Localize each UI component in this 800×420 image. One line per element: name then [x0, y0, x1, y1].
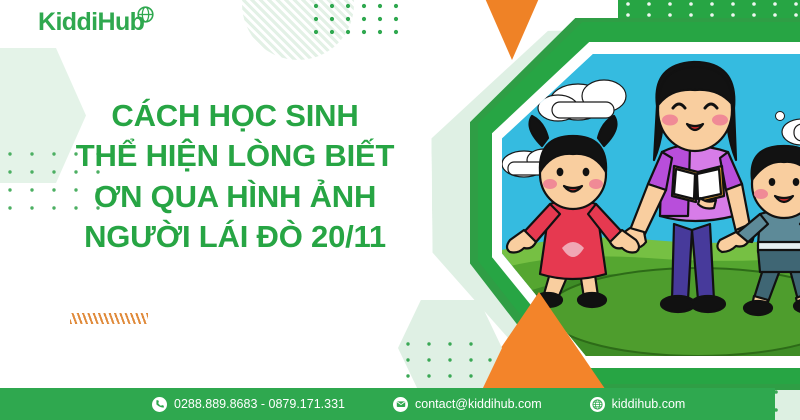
- logo-text: KiddiHub: [38, 8, 144, 37]
- headline-line-1: CÁCH HỌC SINH: [0, 96, 470, 136]
- white-hexagon-frame: [492, 42, 800, 368]
- footer-phone-text: 0288.889.8683 - 0879.171.331: [174, 397, 345, 411]
- pale-hexagon-bottom-left-decoration: [398, 300, 502, 396]
- email-icon: [393, 397, 408, 412]
- footer-phone-item[interactable]: 0288.889.8683 - 0879.171.331: [152, 397, 345, 412]
- dark-green-hexagon-frame: [470, 18, 800, 390]
- footer-email-text: contact@kiddihub.com: [415, 397, 542, 411]
- footer-email-item[interactable]: contact@kiddihub.com: [393, 397, 542, 412]
- globe-icon: [590, 397, 605, 412]
- contact-footer-bar: 0288.889.8683 - 0879.171.331 contact@kid…: [0, 388, 775, 420]
- kiddihub-logo[interactable]: KiddiHub: [38, 8, 154, 37]
- footer-website-text: kiddihub.com: [612, 397, 686, 411]
- striped-circle-decoration: [242, 0, 354, 60]
- dot-grid-top-decoration: [312, 2, 412, 36]
- orange-chevron-decoration: [470, 0, 554, 60]
- headline-line-2: THỂ HIỆN LÒNG BIẾT: [0, 136, 470, 176]
- headline-line-4: NGƯỜI LÁI ĐÒ 20/11: [0, 217, 470, 257]
- orange-triangle-decoration: [464, 292, 614, 402]
- footer-website-item[interactable]: kiddihub.com: [590, 397, 686, 412]
- globe-icon: [137, 6, 154, 28]
- pale-hexagon-backdrop: [430, 28, 800, 387]
- illustration-teacher-and-children: [502, 54, 800, 356]
- headline: CÁCH HỌC SINH THỂ HIỆN LÒNG BIẾT ƠN QUA …: [0, 96, 470, 257]
- phone-icon: [152, 397, 167, 412]
- dot-grid-bottom-left-decoration: [402, 338, 494, 392]
- green-dotted-band-top-right: [618, 0, 800, 46]
- orange-hatch-underline-decoration: [70, 313, 148, 324]
- banner-canvas: KiddiHub CÁCH HỌC SINH THỂ HIỆN LÒNG BIẾ…: [0, 0, 800, 420]
- green-hexagon-frame: [478, 22, 800, 384]
- cloud-group: [502, 80, 800, 177]
- headline-line-3: ƠN QUA HÌNH ẢNH: [0, 177, 470, 217]
